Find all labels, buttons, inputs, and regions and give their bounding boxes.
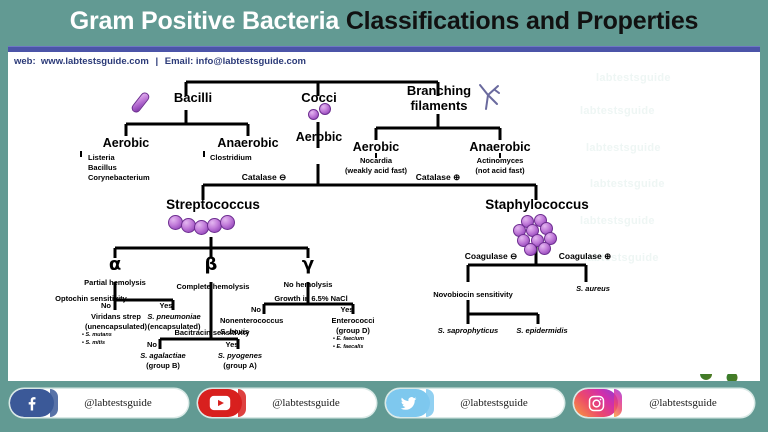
- result-line2: (group D): [336, 326, 370, 335]
- label-catalase-negative: Catalase ⊖: [204, 172, 324, 183]
- result-line1: S. pyogenes: [218, 351, 262, 360]
- page-title: Gram Positive Bacteria Classifications a…: [0, 7, 768, 36]
- organism: Corynebacterium: [88, 173, 150, 182]
- instagram-handle[interactable]: @labtestsguide: [618, 397, 754, 409]
- branching-anaerobic-organism: Actinomyces (not acid fast): [452, 156, 548, 176]
- page-title-rest: Classifications and Properties: [346, 7, 698, 35]
- result-s-aureus: S. aureus: [553, 284, 633, 293]
- node-bacilli-anaerobic: Anaerobic: [204, 136, 292, 150]
- node-streptococcus: Streptococcus: [148, 197, 278, 212]
- social-chip-instagram[interactable]: @labtestsguide: [574, 389, 754, 417]
- branch-label-no: No: [142, 340, 162, 349]
- tick: [203, 151, 205, 157]
- result-line1: Enterococci: [332, 316, 375, 325]
- social-chip-twitter[interactable]: @labtestsguide: [386, 389, 564, 417]
- species: S. mitis: [85, 340, 105, 346]
- result-line2: S. bovis: [220, 327, 249, 336]
- branching-line1: Branching: [407, 83, 471, 98]
- species: E. faecium: [336, 336, 364, 342]
- hemolysis-beta-label: Complete hemolysis: [165, 282, 261, 291]
- node-bacilli-aerobic: Aerobic: [86, 136, 166, 150]
- organism: Nocardia: [360, 156, 392, 165]
- hemolysis-gamma-label: No hemolysis: [270, 280, 346, 289]
- organism: Listeria: [88, 153, 115, 162]
- branching-line2: filaments: [410, 98, 467, 113]
- paired-cocci-icon: [319, 103, 331, 115]
- result-s-pyogenes: S. pyogenes (group A): [194, 351, 286, 371]
- result-line1: Nonenterococcus: [220, 316, 283, 325]
- instagram-icon[interactable]: [574, 389, 618, 417]
- result-line2: (group A): [223, 361, 256, 370]
- paired-cocci-icon: [308, 109, 319, 120]
- hemolysis-gamma-symbol: γ: [292, 256, 324, 274]
- result-s-epidermidis: S. epidermidis: [494, 326, 590, 335]
- branch-label-no: No: [246, 305, 266, 314]
- youtube-icon[interactable]: [198, 389, 242, 417]
- node-branching-aerobic: Aerobic: [338, 140, 414, 154]
- page-title-highlight: Gram Positive Bacteria: [70, 7, 346, 35]
- infographic-page: Gram Positive Bacteria Classifications a…: [0, 0, 768, 432]
- social-chip-facebook[interactable]: @labtestsguide: [10, 389, 188, 417]
- bacilli-aerobic-organisms: Listeria Bacillus Corynebacterium: [88, 153, 198, 183]
- twitter-handle[interactable]: @labtestsguide: [430, 397, 564, 409]
- hemolysis-alpha-symbol: α: [98, 256, 132, 274]
- node-branching-anaerobic: Anaerobic: [460, 140, 540, 154]
- hemolysis-alpha-label: Partial hemolysis: [70, 278, 160, 287]
- test-optochin-sensitivity: Optochin sensitivity: [36, 294, 146, 303]
- node-branching-filaments: Branching filaments: [398, 84, 480, 114]
- test-nacl-growth: Growth in 6.5% NaCl: [256, 294, 366, 303]
- bacilli-anaerobic-organisms: Clostridium: [210, 153, 310, 162]
- diagram-canvas: web: www.labtestsguide.com | Email: info…: [8, 52, 760, 381]
- hemolysis-beta-symbol: β: [194, 256, 228, 274]
- node-bacilli: Bacilli: [158, 90, 228, 105]
- branching-filament-icon: [476, 82, 502, 112]
- enterococci-species-bullets: • E. faecium • E. faecalis: [333, 335, 413, 352]
- organism: Actinomyces: [477, 156, 524, 165]
- facebook-handle[interactable]: @labtestsguide: [54, 397, 188, 409]
- node-cocci: Cocci: [288, 90, 350, 105]
- result-line1: S. agalactiae: [140, 351, 185, 360]
- twitter-icon[interactable]: [386, 389, 430, 417]
- branch-label-no: No: [96, 301, 116, 310]
- node-staphylococcus: Staphylococcus: [471, 197, 603, 212]
- header-band: Gram Positive Bacteria Classifications a…: [0, 0, 768, 46]
- social-footer: @labtestsguide @labtestsguide @labtestsg…: [0, 381, 768, 432]
- result-line1: S. pneumoniae: [147, 312, 200, 321]
- branch-label-yes: Yes: [335, 305, 359, 314]
- youtube-handle[interactable]: @labtestsguide: [242, 397, 376, 409]
- result-nonenterococcus: Nonenterococcus S. bovis: [220, 316, 320, 337]
- species: E. faecalis: [336, 344, 363, 350]
- branching-aerobic-organism: Nocardia (weakly acid fast): [328, 156, 424, 176]
- organism-note: (not acid fast): [475, 166, 524, 175]
- test-novobiocin-sensitivity: Novobiocin sensitivity: [418, 290, 528, 299]
- species: S. mutans: [85, 332, 111, 338]
- label-coagulase-positive: Coagulase ⊕: [530, 251, 640, 262]
- organism-note: (weakly acid fast): [345, 166, 407, 175]
- family-silhouette-graphic: [662, 374, 754, 381]
- result-enterococci: Enterococci (group D): [308, 316, 398, 336]
- result-line2: (group B): [146, 361, 180, 370]
- tick: [80, 151, 82, 157]
- organism: Bacillus: [88, 163, 117, 172]
- branch-label-yes: Yes: [220, 340, 244, 349]
- social-chip-youtube[interactable]: @labtestsguide: [198, 389, 376, 417]
- branch-label-yes: Yes: [154, 301, 178, 310]
- facebook-icon[interactable]: [10, 389, 54, 417]
